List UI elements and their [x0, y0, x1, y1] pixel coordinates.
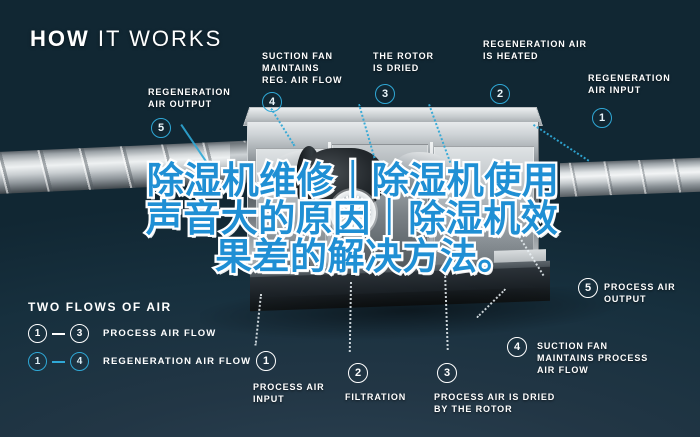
legend-badge-1-regeneration: 1: [28, 352, 47, 371]
legend-label-regeneration-air-flow: REGENERATION AIR FLOW: [103, 356, 251, 367]
legend-badge-3-process: 3: [70, 324, 89, 343]
legend-row-process-air-flow: 1 3 PROCESS AIR FLOW: [28, 324, 251, 343]
label-filtration: FILTRATION: [345, 391, 406, 403]
label-process-air-input: PROCESS AIR INPUT: [253, 381, 325, 405]
callout-5-process-air-output[interactable]: 5: [578, 278, 598, 298]
label-suction-fan-reg: SUCTION FAN MAINTAINS REG. AIR FLOW: [262, 50, 342, 86]
infographic-canvas: HOW IT WORKS REGENERATION AIR OUTPUT 5 S…: [0, 0, 700, 437]
callout-5-regeneration-air-output[interactable]: 5: [151, 118, 171, 138]
legend-dash-process: [52, 333, 65, 335]
legend-badge-1-process: 1: [28, 324, 47, 343]
overlay-line-3: 果差的解决方法。: [0, 238, 700, 276]
label-regeneration-air-output: REGENERATION AIR OUTPUT: [148, 86, 231, 110]
overlay-line-2: 声音大的原因｜除湿机效: [0, 200, 700, 238]
label-process-air-output: PROCESS AIR OUTPUT: [604, 281, 676, 305]
callout-3-process-air-dried[interactable]: 3: [437, 363, 457, 383]
legend-title: TWO FLOWS OF AIR: [28, 300, 251, 314]
page-title: HOW IT WORKS: [30, 26, 222, 52]
label-process-air-dried: PROCESS AIR IS DRIED BY THE ROTOR: [434, 391, 555, 415]
legend-badge-4-regeneration: 4: [70, 352, 89, 371]
overlay-line-1: 除湿机维修｜除湿机使用: [0, 162, 700, 200]
callout-3-rotor-is-dried[interactable]: 3: [375, 84, 395, 104]
overlay-headline: 除湿机维修｜除湿机使用 声音大的原因｜除湿机效 果差的解决方法。: [0, 162, 700, 276]
callout-2-filtration[interactable]: 2: [348, 363, 368, 383]
page-title-bold: HOW: [30, 26, 90, 51]
legend-label-process-air-flow: PROCESS AIR FLOW: [103, 328, 216, 339]
legend-two-flows-of-air: TWO FLOWS OF AIR 1 3 PROCESS AIR FLOW 1 …: [28, 300, 251, 380]
label-regeneration-air-input: REGENERATION AIR INPUT: [588, 72, 671, 96]
callout-4-suction-fan-reg[interactable]: 4: [262, 92, 282, 112]
page-title-rest: IT WORKS: [90, 26, 223, 51]
label-rotor-is-dried: THE ROTOR IS DRIED: [373, 50, 434, 74]
callout-2-regeneration-air-heated[interactable]: 2: [490, 84, 510, 104]
callout-1-process-air-input[interactable]: 1: [256, 351, 276, 371]
callout-1-regeneration-air-input[interactable]: 1: [592, 108, 612, 128]
legend-dash-regeneration: [52, 361, 65, 363]
label-suction-fan-process: SUCTION FAN MAINTAINS PROCESS AIR FLOW: [537, 340, 648, 376]
callout-4-suction-fan-process[interactable]: 4: [507, 337, 527, 357]
label-regeneration-air-heated: REGENERATION AIR IS HEATED: [483, 38, 587, 62]
legend-row-regeneration-air-flow: 1 4 REGENERATION AIR FLOW: [28, 352, 251, 371]
